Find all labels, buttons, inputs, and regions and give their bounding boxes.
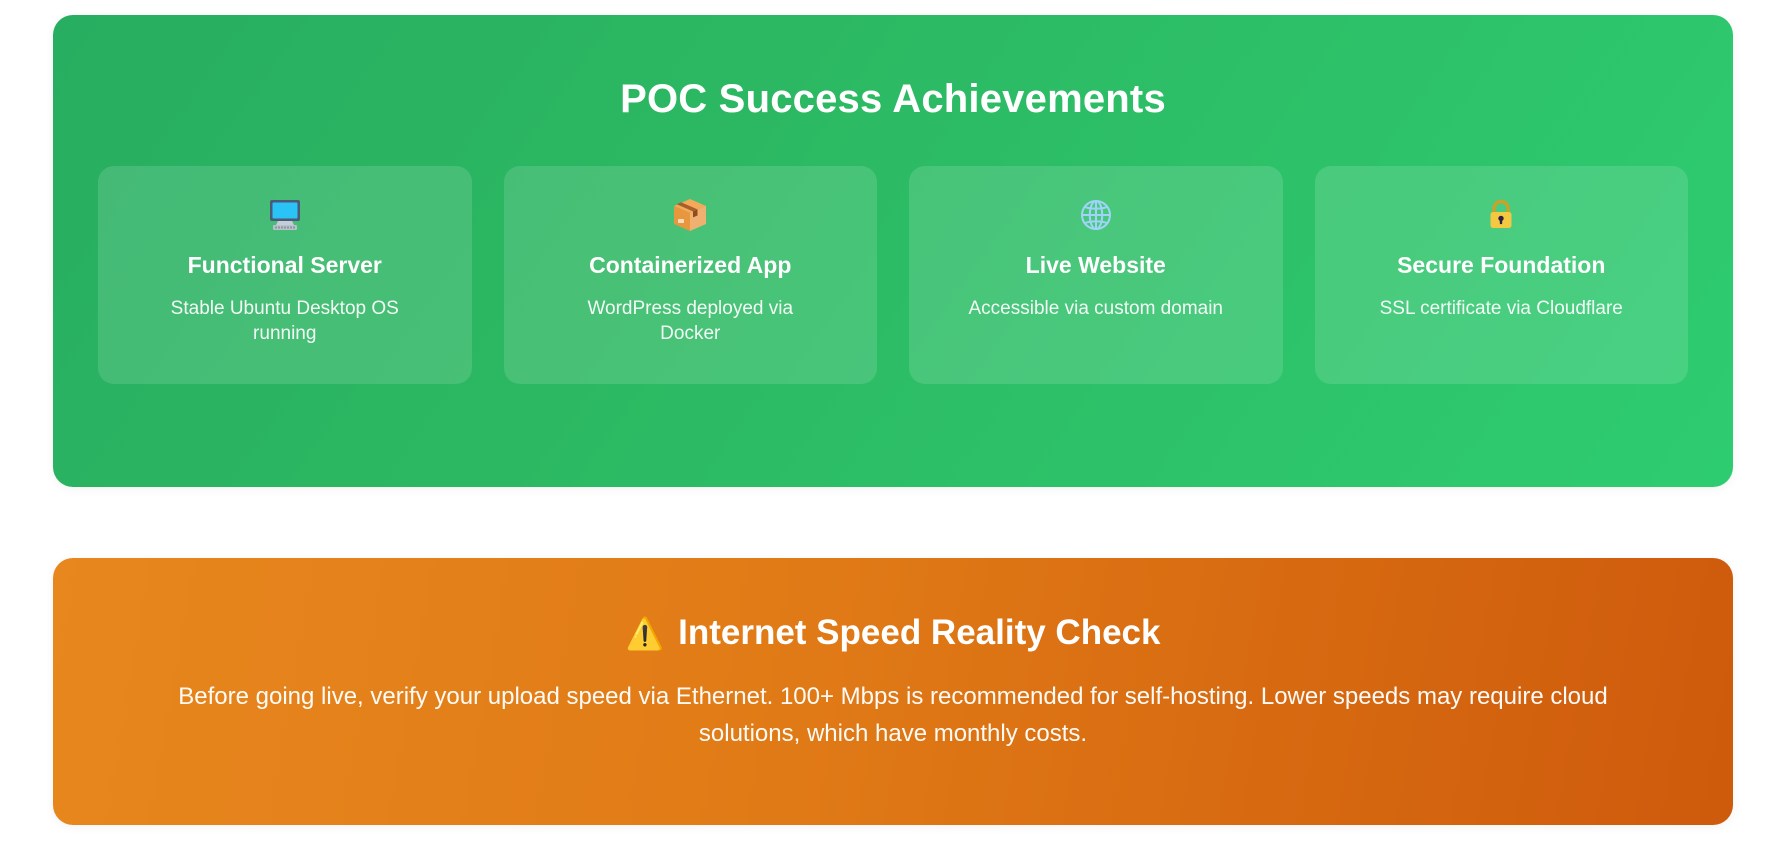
achievement-card-title: Secure Foundation <box>1397 252 1605 280</box>
desktop-computer-icon <box>263 192 307 238</box>
globe-icon <box>1074 192 1118 238</box>
lock-icon <box>1479 192 1523 238</box>
achievement-card-containerized-app: Containerized App WordPress deployed via… <box>504 166 878 384</box>
achievement-card-live-website: Live Website Accessible via custom domai… <box>909 166 1283 384</box>
achievement-card-description: SSL certificate via Cloudflare <box>1380 296 1623 322</box>
warning-triangle-icon: ⚠️ <box>626 618 665 649</box>
achievement-card-title: Live Website <box>1026 252 1166 280</box>
achievement-card-description: WordPress deployed via Docker <box>563 296 818 347</box>
achievements-panel: POC Success Achievements <box>53 15 1733 487</box>
warning-body-text: Before going live, verify your upload sp… <box>143 679 1643 752</box>
achievement-card-description: Stable Ubuntu Desktop OS running <box>157 296 412 347</box>
achievement-cards-row: Functional Server Stable Ubuntu Desktop … <box>53 166 1733 384</box>
warning-banner: ⚠️ Internet Speed Reality Check Before g… <box>53 558 1733 825</box>
warning-title-row: ⚠️ Internet Speed Reality Check <box>113 613 1673 653</box>
achievement-card-title: Containerized App <box>589 252 791 280</box>
achievement-card-title: Functional Server <box>188 252 382 280</box>
achievement-card-functional-server: Functional Server Stable Ubuntu Desktop … <box>98 166 472 384</box>
achievement-card-description: Accessible via custom domain <box>969 296 1224 322</box>
achievement-card-secure-foundation: Secure Foundation SSL certificate via Cl… <box>1315 166 1689 384</box>
page-title: POC Success Achievements <box>53 77 1733 121</box>
page-root: POC Success Achievements <box>0 0 1786 860</box>
warning-title-text: Internet Speed Reality Check <box>678 613 1160 653</box>
package-box-icon <box>668 192 712 238</box>
